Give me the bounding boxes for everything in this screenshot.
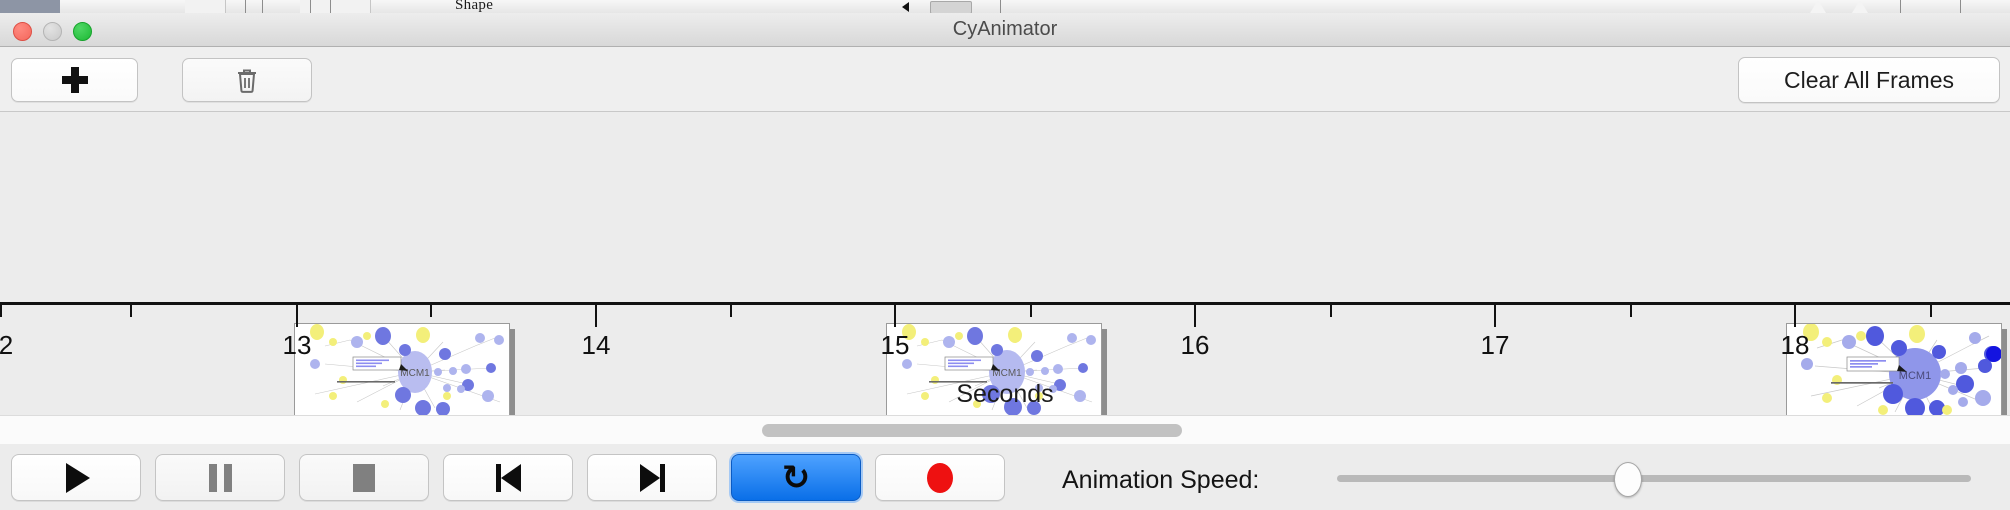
- skip-previous-icon: [496, 464, 521, 492]
- background-window-strip: Shape: [0, 0, 2010, 14]
- axis-tick-label: 17: [1481, 330, 1510, 361]
- axis-tick-major: [1194, 305, 1196, 327]
- axis-tick-label: 2: [0, 330, 13, 361]
- axis-tick-major: [595, 305, 597, 327]
- window-title: CyAnimator: [0, 13, 2010, 46]
- axis-tick-minor: [130, 305, 132, 317]
- animation-speed-slider[interactable]: [1337, 475, 1971, 482]
- transport-bar: ↻ Animation Speed:: [0, 444, 2010, 510]
- axis-tick-minor: [1030, 305, 1032, 317]
- background-rule-2: [262, 0, 263, 13]
- horizontal-scrollbar[interactable]: [0, 415, 2010, 445]
- stop-button[interactable]: [299, 454, 429, 501]
- axis-tick-minor: [1330, 305, 1332, 317]
- axis-tick-major: [1794, 305, 1796, 327]
- axis-tick-label: 15: [881, 330, 910, 361]
- background-triangle-1: [1810, 0, 1826, 13]
- animation-speed-slider-thumb[interactable]: [1614, 462, 1642, 497]
- background-rule-5: [1000, 0, 1001, 13]
- background-rule-4: [330, 0, 331, 13]
- stop-icon: [353, 464, 375, 492]
- axis-tick-label: 16: [1181, 330, 1210, 361]
- cyanimator-window: Shape CyAnimator: [0, 0, 2010, 510]
- play-button[interactable]: [11, 454, 141, 501]
- background-tab-a: [185, 0, 226, 13]
- axis-tick-minor: [1930, 305, 1932, 317]
- axis-tick-minor: [730, 305, 732, 317]
- axis-tick-minor: [0, 305, 2, 317]
- axis-tick-label: 18: [1781, 330, 1810, 361]
- axis-title: Seconds: [0, 380, 2010, 409]
- add-frame-button[interactable]: [11, 58, 138, 102]
- animation-speed-label: Animation Speed:: [1062, 466, 1259, 495]
- record-button[interactable]: [875, 454, 1005, 501]
- previous-frame-button[interactable]: [443, 454, 573, 501]
- trash-icon: [236, 67, 258, 93]
- background-shape-label: Shape: [455, 0, 493, 14]
- skip-next-icon: [640, 464, 665, 492]
- pause-button[interactable]: [155, 454, 285, 501]
- axis-tick-minor: [1630, 305, 1632, 317]
- title-bar: CyAnimator: [0, 13, 2010, 47]
- axis-tick-major: [894, 305, 896, 327]
- axis-tick-label: 13: [283, 330, 312, 361]
- background-triangle-2: [1852, 0, 1868, 13]
- pause-icon: [209, 464, 232, 492]
- timeline-panel[interactable]: MCM1: [0, 112, 2010, 416]
- axis-tick-major: [1494, 305, 1496, 327]
- scrollbar-thumb[interactable]: [762, 424, 1182, 437]
- toolbar: Clear All Frames: [0, 47, 2010, 112]
- loop-button[interactable]: ↻: [731, 454, 861, 501]
- record-icon: [927, 463, 953, 493]
- axis-tick-major: [296, 305, 298, 327]
- background-rule-1: [245, 0, 246, 13]
- background-rule-7: [1960, 0, 1961, 13]
- background-caret-icon: [902, 2, 909, 12]
- axis-tick-label: 14: [582, 330, 611, 361]
- background-rule-6: [1900, 0, 1901, 13]
- clear-all-frames-button[interactable]: Clear All Frames: [1738, 57, 2000, 103]
- next-frame-button[interactable]: [587, 454, 717, 501]
- axis-tick-minor: [430, 305, 432, 317]
- loop-icon: ↻: [782, 461, 811, 495]
- background-rule-3: [310, 0, 311, 13]
- background-selected-tab: [0, 0, 60, 13]
- play-icon: [66, 463, 90, 493]
- delete-frame-button[interactable]: [182, 58, 312, 102]
- plus-icon: [62, 67, 88, 93]
- timeline-axis: [0, 302, 2010, 305]
